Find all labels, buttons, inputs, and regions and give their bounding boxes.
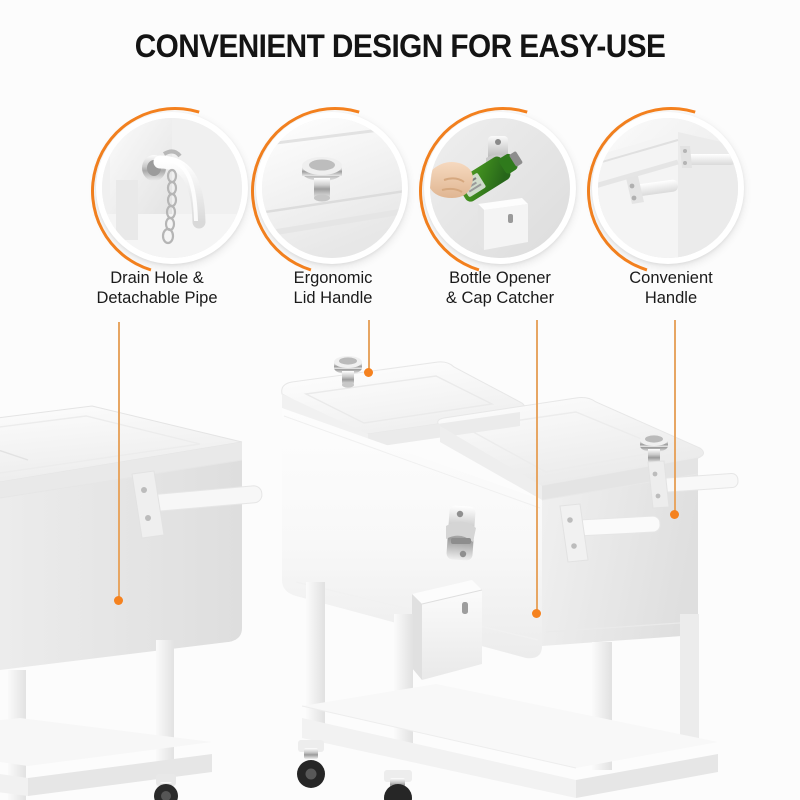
callout-drain-hole[interactable] [96, 112, 248, 264]
drain-hole-icon [102, 118, 242, 258]
callout-ring [96, 112, 248, 264]
caster-front-left [297, 740, 325, 788]
pointer-dot-convenient-handle [670, 510, 679, 519]
caster-front-right [384, 770, 412, 800]
pointer-line-convenient-handle [674, 320, 676, 514]
bottle-opener-icon [430, 118, 570, 258]
feature-label-lid-handle: Ergonomic Lid Handle [248, 268, 418, 308]
cooler-cart-left [0, 378, 280, 800]
callout-bottle-opener[interactable] [424, 112, 576, 264]
pointer-line-drain-hole [118, 322, 120, 600]
callout-ring [256, 112, 408, 264]
pointer-line-bottle-opener [536, 320, 538, 613]
bottle-opener [446, 505, 476, 561]
pointer-dot-drain-hole [114, 596, 123, 605]
pointer-dot-bottle-opener [532, 609, 541, 618]
callout-convenient-handle[interactable] [592, 112, 744, 264]
lid-knob-icon [262, 118, 402, 258]
cooler-cart-main [276, 346, 756, 800]
feature-label-drain-hole: Drain Hole & Detachable Pipe [72, 268, 242, 308]
cap-catcher [412, 580, 482, 680]
page-title: CONVENIENT DESIGN FOR EASY-USE [28, 28, 772, 65]
callout-ring [592, 112, 744, 264]
feature-label-convenient-handle: Convenient Handle [586, 268, 756, 308]
pointer-dot-lid-handle [364, 368, 373, 377]
pointer-line-lid-handle [368, 320, 370, 372]
infographic-page: CONVENIENT DESIGN FOR EASY-USE [0, 0, 800, 800]
feature-label-bottle-opener: Bottle Opener & Cap Catcher [412, 268, 588, 308]
side-handle-icon [598, 118, 738, 258]
callout-ring [424, 112, 576, 264]
callout-lid-handle[interactable] [256, 112, 408, 264]
